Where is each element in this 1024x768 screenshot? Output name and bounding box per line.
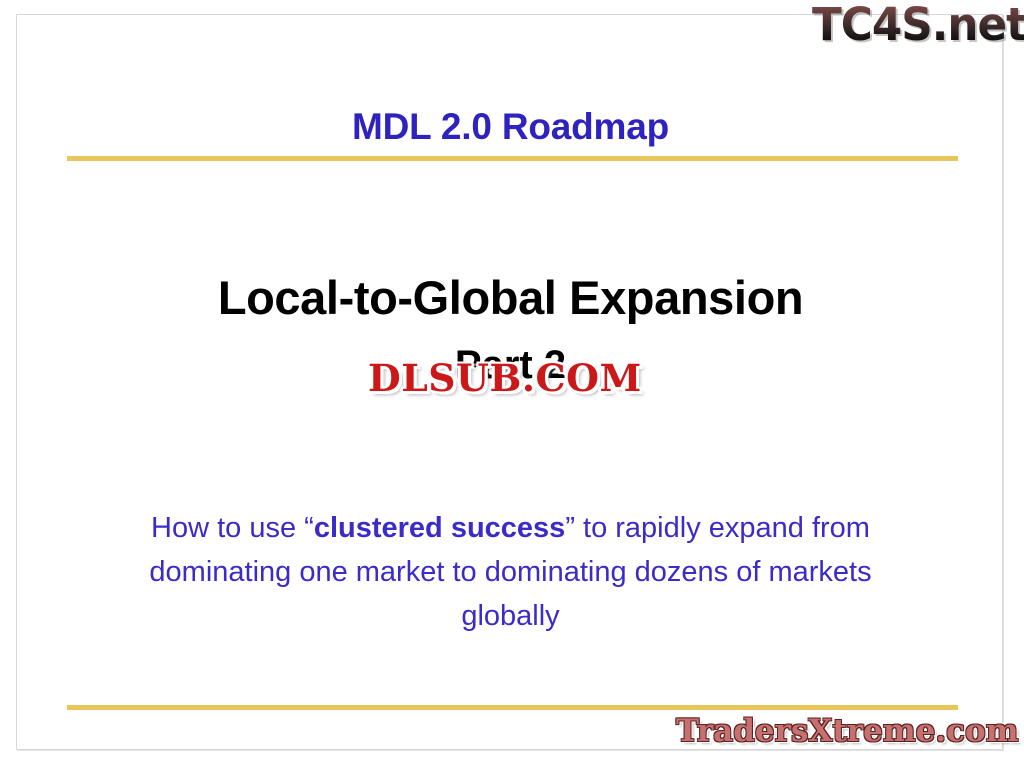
body-paragraph: How to use “clustered success” to rapidl…: [97, 506, 924, 638]
body-line3: dominating dozens of markets globally: [461, 556, 871, 632]
body-line1-suffix: ” to rapidly: [565, 512, 700, 544]
body-line1-emphasis: clustered success: [314, 512, 565, 544]
main-heading: Local-to-Global Expansion: [17, 273, 1004, 324]
watermark-tradersxtreme-logo: TradersXtreme.com: [676, 713, 1019, 749]
body-line1-prefix: How to use “: [151, 512, 314, 544]
watermark-dlsub-logo: DLSUB.COM: [368, 356, 642, 400]
watermark-tc4s-logo: TC4S.net: [812, 0, 1024, 51]
divider-bottom: [67, 705, 958, 710]
